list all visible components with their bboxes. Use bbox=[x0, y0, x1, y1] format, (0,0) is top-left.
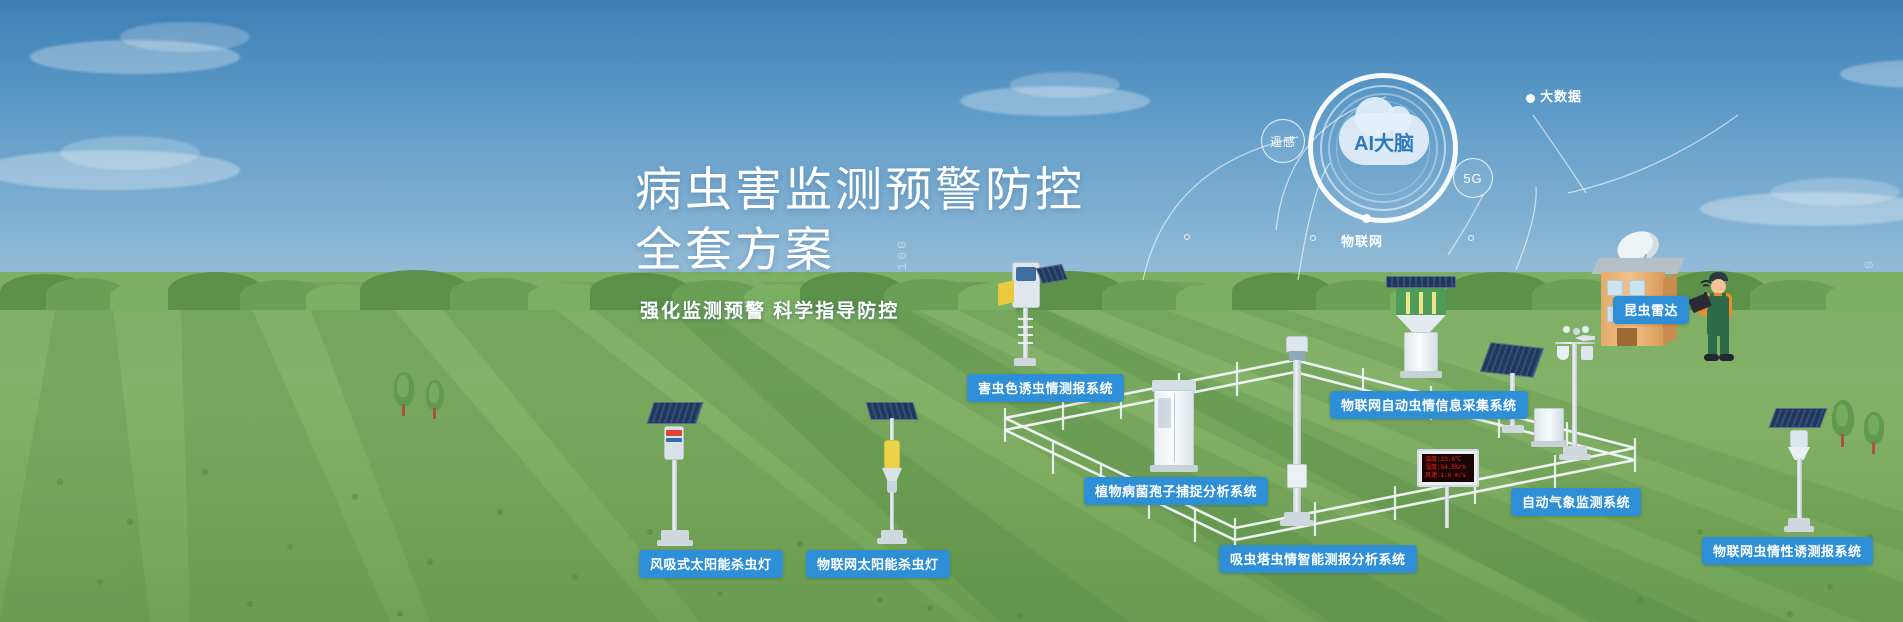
wind-vane bbox=[1575, 335, 1595, 341]
headline-block: 病虫害监测预警防控 全套方案 强化监测预警 科学指导防控 bbox=[635, 160, 1085, 323]
device-base bbox=[1784, 526, 1814, 532]
trap-head bbox=[1790, 430, 1808, 448]
tower-head bbox=[1286, 336, 1308, 352]
label-wind-suction-solar-insect-lamp[interactable]: 风吸式太阳能杀虫灯 bbox=[639, 550, 783, 578]
device-plant-pathogen-spore-capture-system[interactable] bbox=[1148, 380, 1200, 480]
mounting-pole bbox=[890, 492, 894, 532]
ladder-rung bbox=[1018, 342, 1033, 344]
farmer-leg bbox=[1708, 332, 1717, 356]
solar-panel bbox=[646, 402, 703, 424]
cabinet-base bbox=[1531, 441, 1567, 447]
shrub bbox=[424, 380, 446, 422]
device-suction-tower-smart-forecast-system[interactable] bbox=[1278, 336, 1318, 540]
mounting-pole bbox=[1797, 458, 1802, 520]
solar-panel bbox=[1768, 408, 1827, 428]
led-housing: 温度:23.6℃ 湿度:64.5%rh 风速:1.6 m/s bbox=[1417, 449, 1479, 487]
led-row-temperature: 温度:23.6℃ bbox=[1425, 456, 1471, 464]
led-sign-pole bbox=[1445, 486, 1449, 528]
ai-brain-cluster: AI大脑 遥感 5G 大数据 物联网 bbox=[1258, 55, 1638, 265]
network-endpoint-dot bbox=[1468, 235, 1474, 241]
shrub bbox=[392, 372, 416, 418]
ladder-rung bbox=[1018, 326, 1033, 328]
device-iot-pheromone-lure-forecast-system[interactable] bbox=[1768, 408, 1834, 538]
page-subtitle: 强化监测预警 科学指导防控 bbox=[640, 296, 1085, 323]
lamp-tube bbox=[1406, 292, 1410, 314]
cloud-shape bbox=[1840, 60, 1903, 88]
label-iot-pheromone-lure-forecast-system[interactable]: 物联网虫情性诱测报系统 bbox=[1702, 537, 1873, 565]
field-fence-enclosure bbox=[995, 330, 1715, 580]
cabinet-base bbox=[1400, 371, 1442, 378]
device-base bbox=[1502, 425, 1524, 433]
auxiliary-control-cabinet bbox=[1534, 408, 1568, 452]
page-title-line-2: 全套方案 bbox=[635, 220, 1085, 280]
lamp-tube bbox=[1432, 292, 1436, 314]
farmer-character bbox=[1690, 272, 1748, 364]
device-wind-suction-solar-insect-lamp[interactable] bbox=[640, 398, 712, 548]
mast bbox=[1572, 342, 1577, 448]
node-5g[interactable]: 5G bbox=[1453, 158, 1493, 198]
device-iot-solar-insect-lamp[interactable] bbox=[862, 398, 926, 548]
network-endpoint-dot bbox=[1310, 235, 1316, 241]
anemometer-cups bbox=[1563, 326, 1589, 334]
node-big-data-label: 大数据 bbox=[1540, 86, 1582, 105]
farmer-strap bbox=[1722, 293, 1726, 301]
node-iot-dot bbox=[1362, 214, 1371, 223]
cabinet-door-line bbox=[1174, 394, 1175, 462]
device-iot-auto-pest-info-collection-system[interactable] bbox=[1382, 276, 1460, 386]
cabinet-base bbox=[1150, 465, 1198, 472]
cloud-shape bbox=[1010, 72, 1120, 98]
farmer-shoe bbox=[1719, 354, 1734, 361]
led-row-humidity: 湿度:64.5%rh bbox=[1425, 464, 1471, 472]
cloud-shape bbox=[120, 22, 250, 52]
mounting-pole bbox=[672, 460, 677, 532]
node-big-data-dot bbox=[1526, 94, 1535, 103]
node-iot-label: 物联网 bbox=[1341, 231, 1383, 250]
device-base bbox=[1280, 520, 1314, 526]
label-auto-weather-monitoring-system[interactable]: 自动气象监测系统 bbox=[1511, 488, 1641, 516]
label-insect-radar[interactable]: 昆虫雷达 bbox=[1613, 296, 1689, 324]
tower-mast bbox=[1293, 360, 1301, 512]
lamp-tube bbox=[1419, 292, 1423, 314]
led-screen: 温度:23.6℃ 湿度:64.5%rh 风速:1.6 m/s bbox=[1422, 454, 1474, 482]
tower-collector bbox=[1287, 464, 1307, 488]
label-pest-color-lure-forecast-system[interactable]: 害虫色诱虫情测报系统 bbox=[967, 374, 1124, 402]
radiation-shield bbox=[1557, 346, 1569, 360]
lamp-funnel bbox=[882, 468, 902, 482]
cabinet-vent bbox=[1158, 398, 1171, 428]
device-base bbox=[1014, 358, 1036, 366]
farmer-leg bbox=[1720, 332, 1729, 356]
rain-gauge bbox=[1581, 346, 1593, 360]
device-base bbox=[657, 540, 693, 546]
farmer-shoe bbox=[1704, 354, 1719, 361]
lamp-tube bbox=[884, 440, 900, 470]
page-title-line-1: 病虫害监测预警防控 bbox=[635, 160, 1085, 220]
led-info-display[interactable]: 温度:23.6℃ 湿度:64.5%rh 风速:1.6 m/s bbox=[1417, 449, 1479, 487]
pest-monitoring-banner: 0100101000100 0101110101000101011010 病虫害… bbox=[0, 0, 1903, 622]
building-door bbox=[1617, 328, 1637, 346]
mounting-pole bbox=[890, 418, 894, 442]
device-base bbox=[877, 538, 907, 544]
shrub bbox=[1862, 412, 1886, 458]
wifi-signal-dot bbox=[1704, 292, 1707, 295]
cloud-shape bbox=[1770, 178, 1900, 206]
cloud-shape bbox=[60, 136, 200, 170]
node-remote-sensing[interactable]: 遥感 bbox=[1261, 119, 1305, 163]
cabinet-body bbox=[1534, 408, 1564, 442]
led-row-wind-speed: 风速:1.6 m/s bbox=[1425, 472, 1471, 480]
label-suction-tower-smart-forecast-system[interactable]: 吸虫塔虫情智能测报分析系统 bbox=[1219, 545, 1417, 573]
funnel bbox=[1396, 315, 1446, 333]
cabinet-body bbox=[1404, 332, 1438, 372]
device-base bbox=[1559, 454, 1591, 460]
lamp-indicator bbox=[666, 430, 682, 436]
node-remote-sensing-label: 遥感 bbox=[1270, 133, 1296, 150]
label-plant-pathogen-spore-capture-system[interactable]: 植物病菌孢子捕捉分析系统 bbox=[1084, 477, 1268, 505]
lamp-indicator bbox=[666, 438, 682, 442]
ai-brain-label: AI大脑 bbox=[1339, 127, 1429, 156]
ladder-rung bbox=[1018, 334, 1033, 336]
node-5g-label: 5G bbox=[1463, 171, 1482, 186]
network-endpoint-dot bbox=[1184, 234, 1190, 240]
label-iot-auto-pest-info-collection-system[interactable]: 物联网自动虫情信息采集系统 bbox=[1330, 391, 1528, 419]
label-iot-solar-insect-lamp[interactable]: 物联网太阳能杀虫灯 bbox=[806, 550, 950, 578]
